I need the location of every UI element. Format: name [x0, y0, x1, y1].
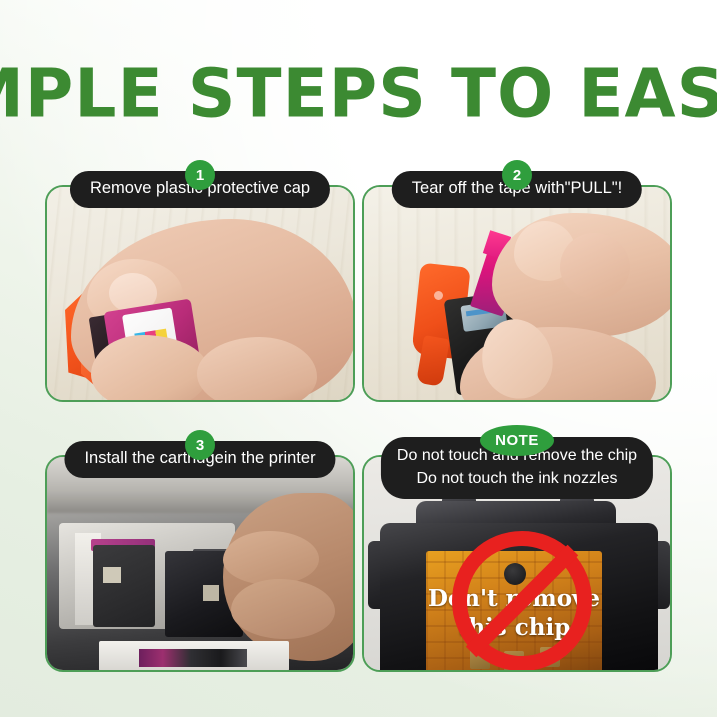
step-badge-3: 3 [185, 430, 215, 460]
step-panel-2: 2 Tear off the tape with"PULL"! [362, 185, 672, 402]
index-finger [223, 531, 319, 585]
prohibition-icon [452, 531, 592, 670]
color-cartridge [93, 545, 155, 627]
step-1-photo [47, 187, 353, 400]
step-3-photo [47, 457, 353, 670]
page-title-container: SIMPLE STEPS TO EASILY [0, 58, 717, 130]
orange-clip-highlight [434, 291, 443, 300]
steps-grid: 1 Remove plastic protective cap 2 Tear o… [45, 185, 672, 672]
page-title: SIMPLE STEPS TO EASILY [0, 60, 717, 127]
thumb [231, 579, 335, 639]
note-badge: NOTE [480, 425, 554, 456]
black-cartridge-label [203, 585, 219, 601]
color-cartridge-label [103, 567, 121, 583]
step-badge-2: 2 [502, 160, 532, 190]
note-caption-line-2: Do not touch the ink nozzles [397, 468, 637, 491]
step-panel-1: 1 Remove plastic protective cap [45, 185, 355, 402]
step-2-photo [364, 187, 670, 400]
step-badge-1: 1 [185, 160, 215, 190]
note-panel: Don't remove this chip NOTE Do not touch… [362, 455, 672, 672]
step-panel-3: 3 Install the cartridgein the printer [45, 455, 355, 672]
middle-finger [560, 233, 630, 299]
paper-print-sample [139, 649, 247, 667]
